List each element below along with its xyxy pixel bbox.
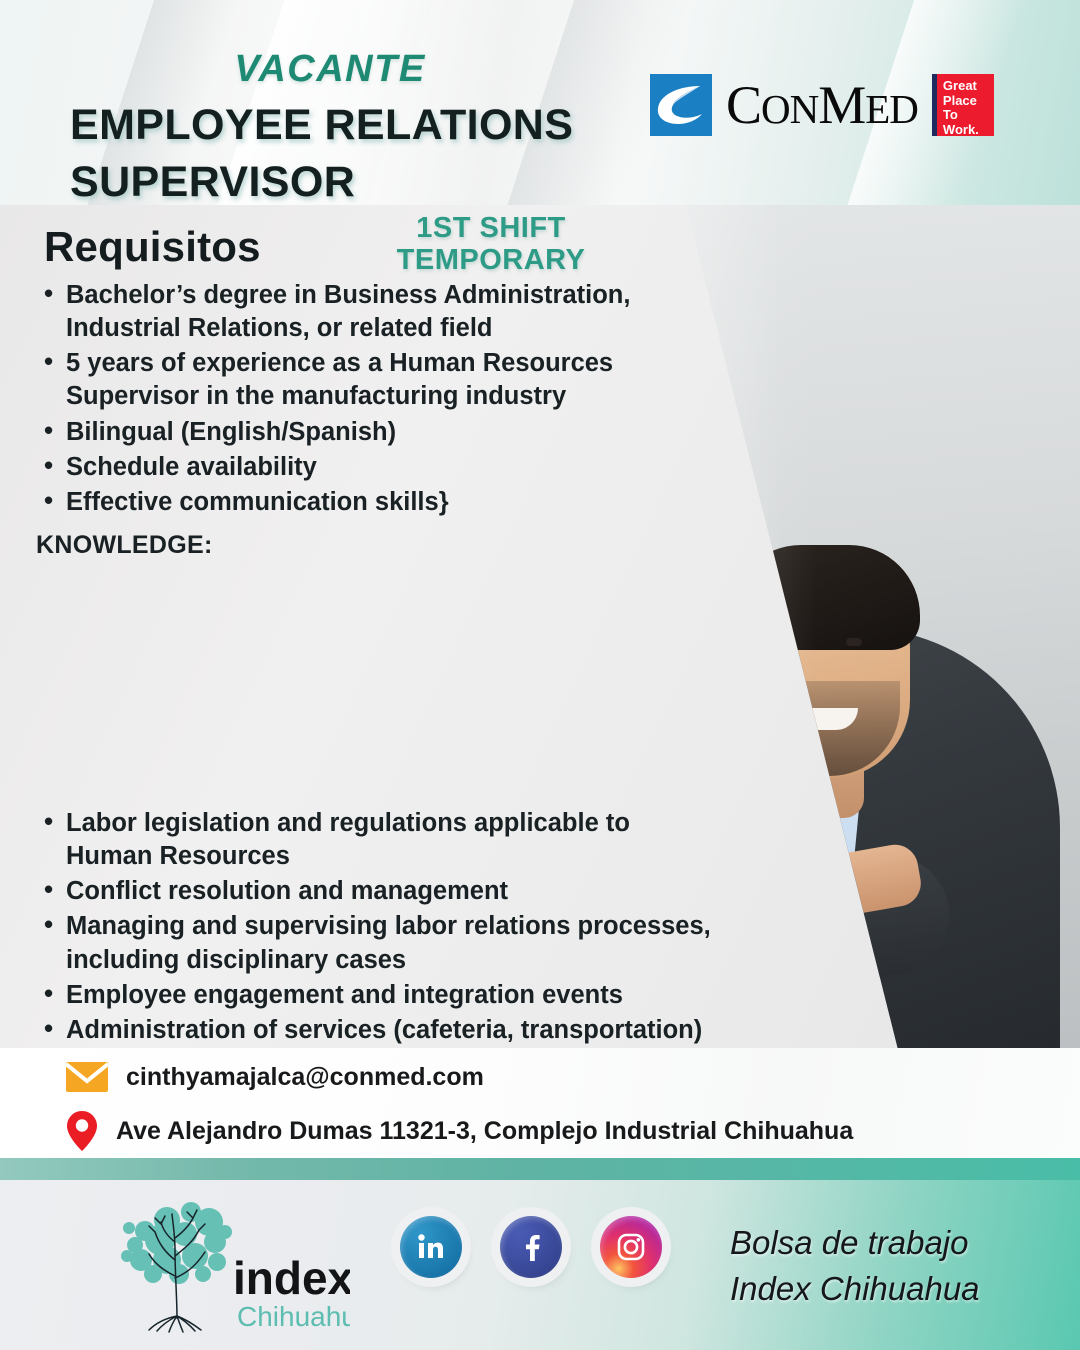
location-pin-icon	[66, 1110, 98, 1152]
list-item: Effective communication skills}	[66, 486, 696, 519]
linkedin-icon[interactable]	[400, 1216, 462, 1278]
address-text: Ave Alejandro Dumas 11321-3, Complejo In…	[116, 1117, 853, 1146]
tagline-line-1: Bolsa de trabajo	[730, 1220, 980, 1266]
company-logo: CONMED Great Place To Work.	[650, 74, 994, 136]
facebook-icon[interactable]	[500, 1216, 562, 1278]
instagram-icon[interactable]	[600, 1216, 662, 1278]
knowledge-heading: KNOWLEDGE:	[36, 531, 213, 560]
svg-text:Chihuahua: Chihuahua	[237, 1301, 350, 1332]
teal-divider	[0, 1158, 1080, 1180]
contact-strip: cinthyamajalca@conmed.com Ave Alejandro …	[0, 1048, 1080, 1158]
contact-email-row[interactable]: cinthyamajalca@conmed.com	[66, 1062, 484, 1092]
social-links	[400, 1216, 662, 1278]
email-text: cinthyamajalca@conmed.com	[126, 1063, 484, 1092]
main-content: Requisitos 1ST SHIFT TEMPORARY Bachelor’…	[0, 205, 1080, 1048]
list-item: Employee engagement and integration even…	[66, 979, 716, 1012]
footer: index Chihuahua	[0, 1180, 1080, 1350]
list-item: Schedule availability	[66, 451, 696, 484]
shift-badge: 1ST SHIFT TEMPORARY	[360, 213, 622, 277]
footer-tagline: Bolsa de trabajo Index Chihuahua	[730, 1220, 980, 1311]
email-icon	[66, 1062, 108, 1092]
list-item: Labor legislation and regulations applic…	[66, 807, 716, 873]
svg-text:index: index	[233, 1252, 350, 1304]
list-item: 5 years of experience as a Human Resourc…	[66, 347, 696, 413]
list-item: Administration of services (cafeteria, t…	[66, 1014, 716, 1047]
shift-line-1: 1ST SHIFT	[360, 213, 622, 245]
list-item: Conflict resolution and management	[66, 875, 716, 908]
list-item: Bachelor’s degree in Business Administra…	[66, 279, 696, 345]
badge-line-3: To	[943, 108, 990, 123]
vacante-label: VACANTE	[0, 48, 660, 91]
list-item: Managing and supervising labor relations…	[66, 910, 716, 976]
wordmark-c: C	[726, 75, 761, 135]
knowledge-list: Labor legislation and regulations applic…	[0, 807, 716, 1048]
list-item: Bilingual (English/Spanish)	[66, 416, 696, 449]
conmed-c-mark-icon	[650, 74, 712, 136]
requisitos-heading: Requisitos	[44, 223, 261, 271]
wordmark-on: ON	[761, 86, 818, 132]
badge-line-4: Work.	[943, 123, 990, 138]
tagline-line-2: Index Chihuahua	[730, 1266, 980, 1312]
header: VACANTE EMPLOYEE RELATIONS SUPERVISOR CO…	[0, 0, 1080, 205]
wordmark-m: M	[818, 75, 865, 135]
index-chihuahua-logo: index Chihuahua	[105, 1198, 350, 1333]
company-wordmark: CONMED	[726, 78, 918, 132]
contact-address-row: Ave Alejandro Dumas 11321-3, Complejo In…	[66, 1110, 853, 1152]
shift-line-2: TEMPORARY	[360, 245, 622, 277]
great-place-to-work-badge: Great Place To Work.	[932, 74, 994, 136]
photo-eye-left	[776, 640, 792, 648]
badge-line-1: Great	[943, 79, 990, 94]
wordmark-ed: ED	[865, 86, 918, 132]
page-title: EMPLOYEE RELATIONS SUPERVISOR	[70, 97, 660, 205]
requirements-list: Bachelor’s degree in Business Administra…	[0, 279, 696, 519]
badge-line-2: Place	[943, 94, 990, 109]
job-posting-poster: VACANTE EMPLOYEE RELATIONS SUPERVISOR CO…	[0, 0, 1080, 1350]
